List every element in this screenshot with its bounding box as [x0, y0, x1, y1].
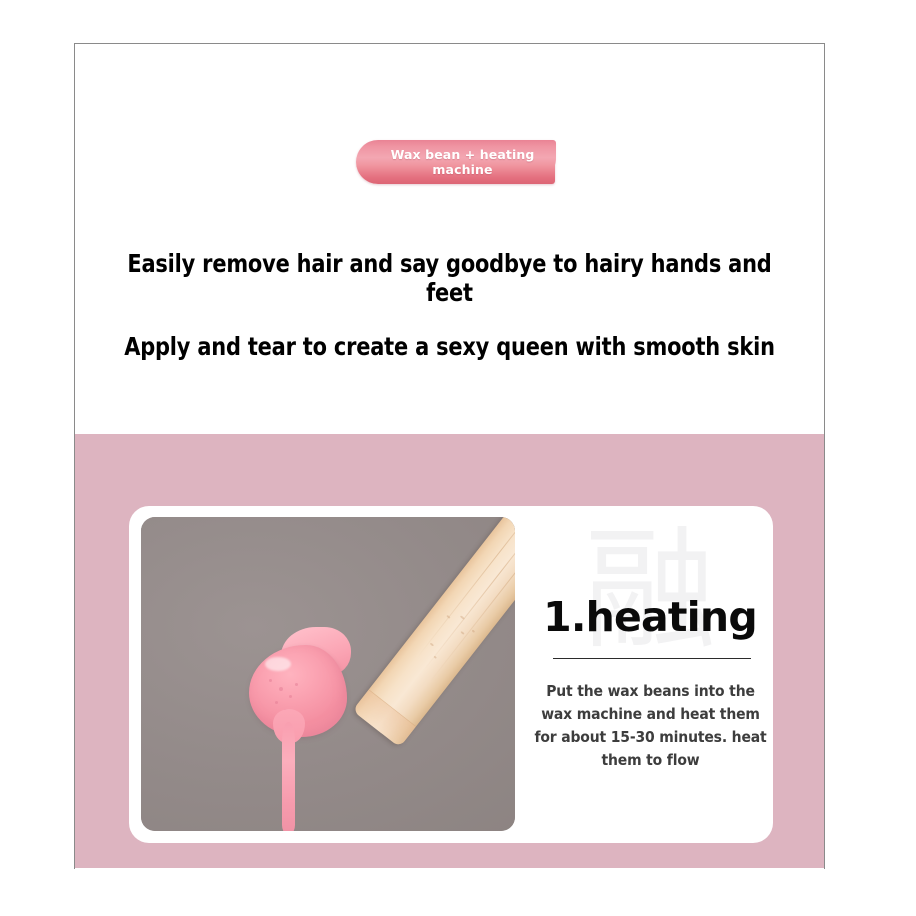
chinese-character-watermark: 融: [545, 516, 755, 666]
headline-primary: Easily remove hair and say goodbye to ha…: [101, 249, 798, 307]
headline-secondary: Apply and tear to create a sexy queen wi…: [101, 332, 798, 361]
step-title: 1.heating: [527, 593, 773, 641]
step-panel: 融 1.heating Put the wax beans into the w…: [75, 434, 824, 868]
intro-section: Wax bean + heating machine Easily remove…: [75, 44, 824, 434]
wax-drip: [282, 722, 295, 831]
step-photo: [141, 517, 515, 831]
content-frame: Wax bean + heating machine Easily remove…: [74, 43, 825, 869]
step-card: 融 1.heating Put the wax beans into the w…: [129, 506, 773, 843]
product-badge: Wax bean + heating machine: [356, 140, 555, 184]
product-badge-label: Wax bean + heating machine: [356, 147, 555, 177]
step-divider: [553, 658, 751, 659]
step-text-column: 融 1.heating Put the wax beans into the w…: [527, 506, 773, 843]
step-description: Put the wax beans into the wax machine a…: [530, 680, 771, 772]
